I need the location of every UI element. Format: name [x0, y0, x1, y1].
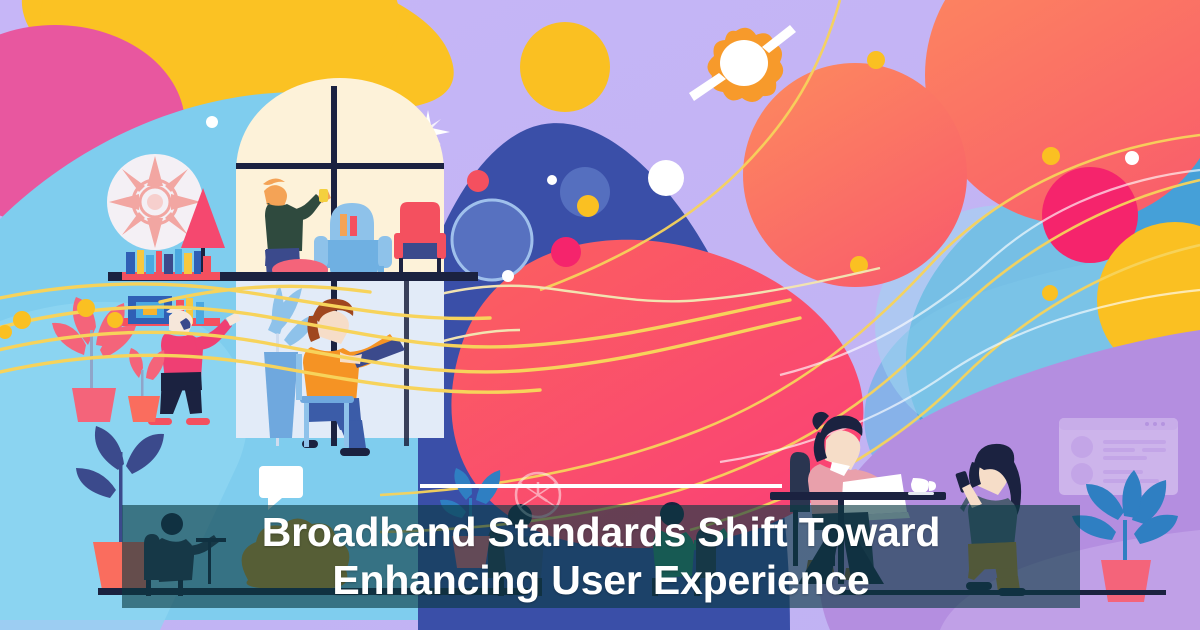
wire-node-left-2: [77, 299, 95, 317]
wire-node-left-4: [0, 325, 12, 339]
page-title: Broadband Standards Shift Toward Enhanci…: [262, 509, 941, 605]
wire-node-left-1: [13, 311, 31, 329]
poster-canvas: Broadband Standards Shift Toward Enhanci…: [0, 0, 1200, 630]
wire-node-left-3: [107, 312, 123, 328]
headline-divider: [420, 484, 782, 488]
headline-overlay-band: Broadband Standards Shift Toward Enhanci…: [122, 505, 1080, 608]
